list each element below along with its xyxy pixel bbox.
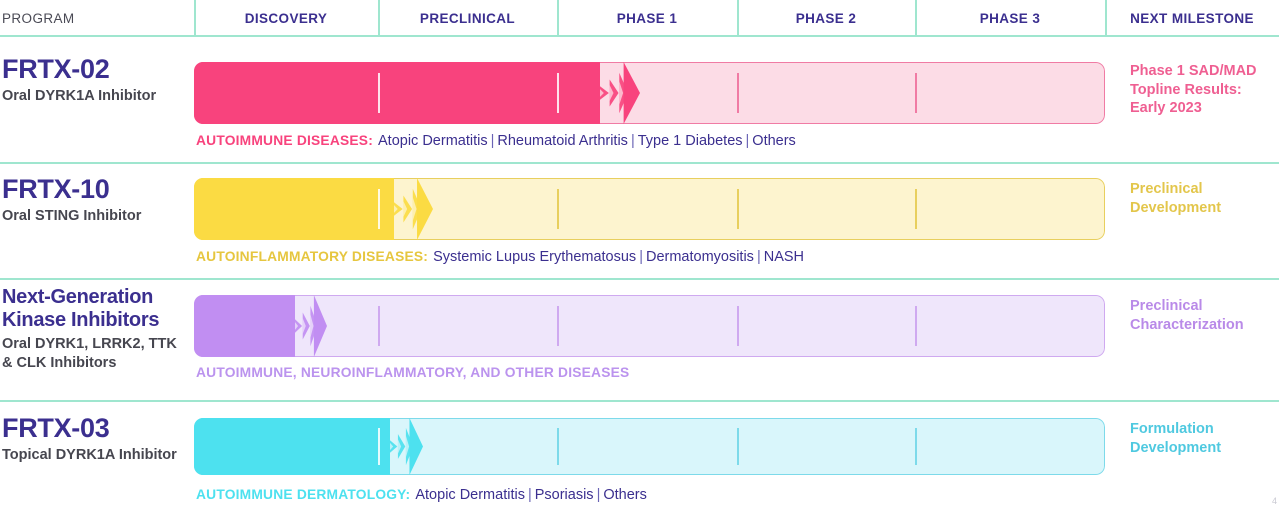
indications-1: AUTOINFLAMMATORY DISEASES:Systemic Lupus… [196,249,804,266]
phase-tick-0 [378,189,380,229]
pipeline-chart: PROGRAMDISCOVERYPRECLINICALPHASE 1PHASE … [0,0,1279,506]
column-header-phase-2: PHASE 2 [737,0,915,36]
phase-bar-track [194,418,1105,475]
header-divider-2 [557,0,559,35]
indication-item: Psoriasis [535,487,594,503]
program-name: Next-Generation Kinase Inhibitors [2,286,188,332]
indication-item: Dermatomyositis [646,249,754,265]
indication-category: AUTOIMMUNE DISEASES: [196,133,373,148]
program-subtitle: Topical DYRK1A Inhibitor [2,446,188,465]
phase-bar-progress [194,418,390,475]
phase-tick-1 [557,73,559,113]
header-rule [0,35,1279,37]
row-separator-0 [0,162,1279,164]
indication-item: Rheumatoid Arthritis [497,133,628,149]
program-name: FRTX-10 [2,175,188,204]
indication-item: Atopic Dermatitis [378,133,488,149]
phase-tick-1 [557,428,559,464]
indication-separator: | [628,133,638,149]
phase-tick-3 [915,428,917,464]
progress-chevron-icon [390,418,423,475]
indication-item: Others [603,487,647,503]
row-separator-2 [0,400,1279,402]
indication-separator: | [525,487,535,503]
indications-3: AUTOIMMUNE DERMATOLOGY:Atopic Dermatitis… [196,487,647,504]
header-divider-4 [915,0,917,35]
row-separator-1 [0,278,1279,280]
program-name: FRTX-02 [2,55,188,84]
phase-bar-track [194,178,1105,240]
indication-separator: | [636,249,646,265]
page-mark: 4 [1272,496,1277,506]
indication-list: Atopic Dermatitis|Rheumatoid Arthritis|T… [373,133,796,149]
indication-item: Systemic Lupus Erythematosus [433,249,636,265]
column-header-preclinical: PRECLINICAL [378,0,557,36]
phase-tick-2 [737,189,739,229]
program-label-2: Next-Generation Kinase InhibitorsOral DY… [2,286,188,373]
phase-bar-1 [194,178,1105,240]
program-label-1: FRTX-10Oral STING Inhibitor [2,175,188,226]
phase-bar-track [194,62,1105,124]
indication-separator: | [754,249,764,265]
phase-bar-3 [194,418,1105,475]
indication-category: AUTOIMMUNE, NEUROINFLAMMATORY, AND OTHER… [196,365,629,380]
column-header-next-milestone: NEXT MILESTONE [1105,0,1279,36]
phase-tick-0 [378,428,380,464]
next-milestone-1: Preclinical Development [1130,180,1279,217]
next-milestone-3: Formulation Development [1130,420,1279,457]
column-header-phase-1: PHASE 1 [557,0,737,36]
phase-tick-2 [737,306,739,346]
column-header-program: PROGRAM [0,0,192,36]
indication-item: Type 1 Diabetes [638,133,743,149]
phase-tick-1 [557,306,559,346]
header-divider-5 [1105,0,1107,35]
phase-tick-3 [915,306,917,346]
phase-tick-0 [378,73,380,113]
indication-category: AUTOINFLAMMATORY DISEASES: [196,249,428,264]
indication-list: Systemic Lupus Erythematosus|Dermatomyos… [428,249,804,265]
next-milestone-0: Phase 1 SAD/MAD Topline Results: Early 2… [1130,62,1279,118]
next-milestone-2: Preclinical Characterization [1130,297,1279,334]
phase-bar-track [194,295,1105,357]
program-subtitle: Oral STING Inhibitor [2,207,188,226]
pipeline-header: PROGRAMDISCOVERYPRECLINICALPHASE 1PHASE … [0,0,1279,36]
program-label-0: FRTX-02Oral DYRK1A Inhibitor [2,55,188,106]
program-label-3: FRTX-03Topical DYRK1A Inhibitor [2,414,188,465]
program-subtitle: Oral DYRK1A Inhibitor [2,87,188,106]
indication-list: Atopic Dermatitis|Psoriasis|Others [410,487,647,503]
progress-chevron-icon [394,178,433,240]
indication-category: AUTOIMMUNE DERMATOLOGY: [196,487,410,502]
column-header-discovery: DISCOVERY [194,0,378,36]
indication-item: Others [752,133,796,149]
phase-tick-0 [378,306,380,346]
indication-item: NASH [764,249,804,265]
phase-bar-progress [194,178,394,240]
header-divider-3 [737,0,739,35]
phase-bar-0 [194,62,1105,124]
header-divider-0 [194,0,196,35]
indication-separator: | [488,133,498,149]
indication-separator: | [743,133,753,149]
phase-tick-2 [737,428,739,464]
phase-tick-1 [557,189,559,229]
phase-bar-progress [194,295,295,357]
indication-separator: | [594,487,604,503]
column-header-phase-3: PHASE 3 [915,0,1105,36]
phase-tick-2 [737,73,739,113]
program-subtitle: Oral DYRK1, LRRK2, TTK & CLK Inhibitors [2,335,188,373]
indications-0: AUTOIMMUNE DISEASES:Atopic Dermatitis|Rh… [196,133,796,150]
indication-item: Atopic Dermatitis [415,487,525,503]
phase-bar-progress [194,62,600,124]
phase-tick-3 [915,189,917,229]
indications-2: AUTOIMMUNE, NEUROINFLAMMATORY, AND OTHER… [196,365,629,382]
program-name: FRTX-03 [2,414,188,443]
progress-chevron-icon [295,295,327,357]
header-divider-1 [378,0,380,35]
phase-bar-2 [194,295,1105,357]
progress-chevron-icon [600,62,640,124]
phase-tick-3 [915,73,917,113]
phase-bar-background [194,295,1105,357]
